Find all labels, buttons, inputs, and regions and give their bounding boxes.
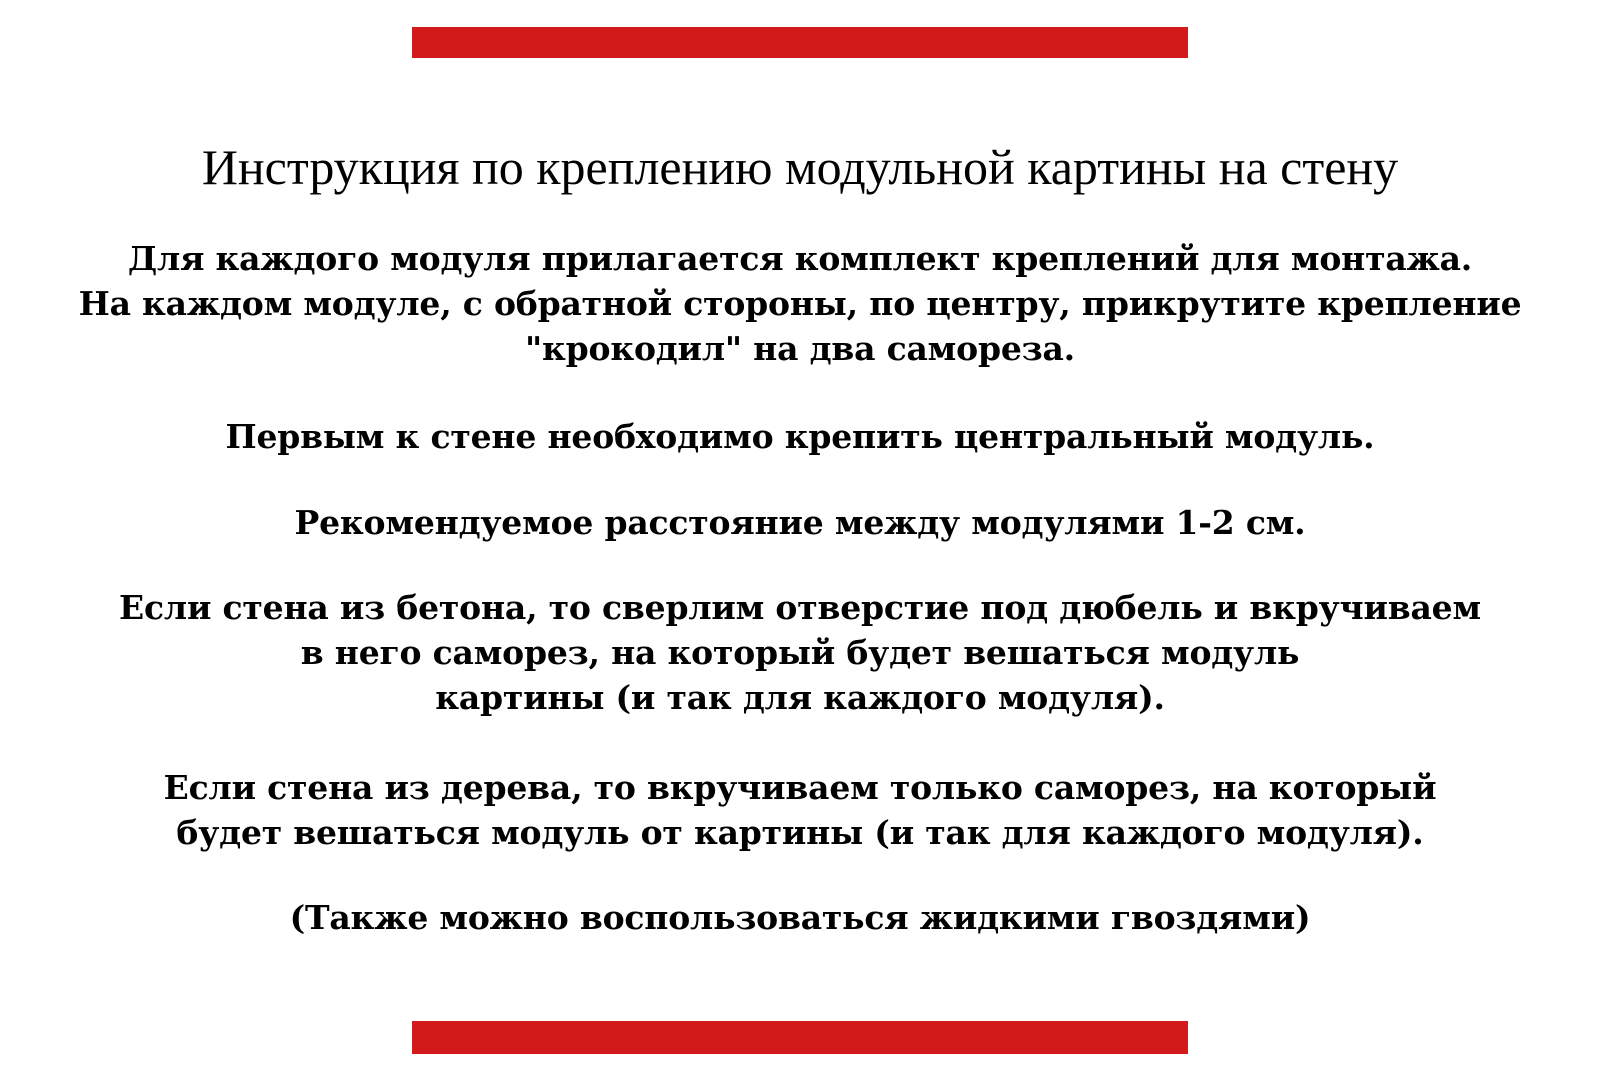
paragraph-line: картины (и так для каждого модуля). <box>0 675 1600 720</box>
paragraph-line: Если стена из бетона, то сверлим отверст… <box>0 585 1600 630</box>
paragraph-line: будет вешаться модуль от картины (и так … <box>0 810 1600 855</box>
instruction-paragraph-3: Рекомендуемое расстояние между модулями … <box>0 500 1600 545</box>
page-title: Инструкция по креплению модульной картин… <box>0 140 1600 194</box>
top-red-rule <box>412 27 1188 58</box>
paragraph-line: (Также можно воспользоваться жидкими гво… <box>0 895 1600 940</box>
paragraph-line: Если стена из дерева, то вкручиваем толь… <box>0 765 1600 810</box>
instruction-paragraph-1: Для каждого модуля прилагается комплект … <box>0 236 1600 371</box>
paragraph-line: "крокодил" на два самореза. <box>0 326 1600 371</box>
instruction-paragraph-2: Первым к стене необходимо крепить центра… <box>0 414 1600 459</box>
instruction-paragraph-4: Если стена из бетона, то сверлим отверст… <box>0 585 1600 720</box>
paragraph-line: в него саморез, на который будет вешатьс… <box>0 630 1600 675</box>
instruction-paragraph-5: Если стена из дерева, то вкручиваем толь… <box>0 765 1600 855</box>
paragraph-line: На каждом модуле, с обратной стороны, по… <box>0 281 1600 326</box>
paragraph-line: Рекомендуемое расстояние между модулями … <box>0 500 1600 545</box>
paragraph-line: Для каждого модуля прилагается комплект … <box>0 236 1600 281</box>
bottom-red-rule <box>412 1021 1188 1054</box>
instruction-paragraph-6: (Также можно воспользоваться жидкими гво… <box>0 895 1600 940</box>
paragraph-line: Первым к стене необходимо крепить центра… <box>0 414 1600 459</box>
instruction-page: Инструкция по креплению модульной картин… <box>0 0 1600 1084</box>
